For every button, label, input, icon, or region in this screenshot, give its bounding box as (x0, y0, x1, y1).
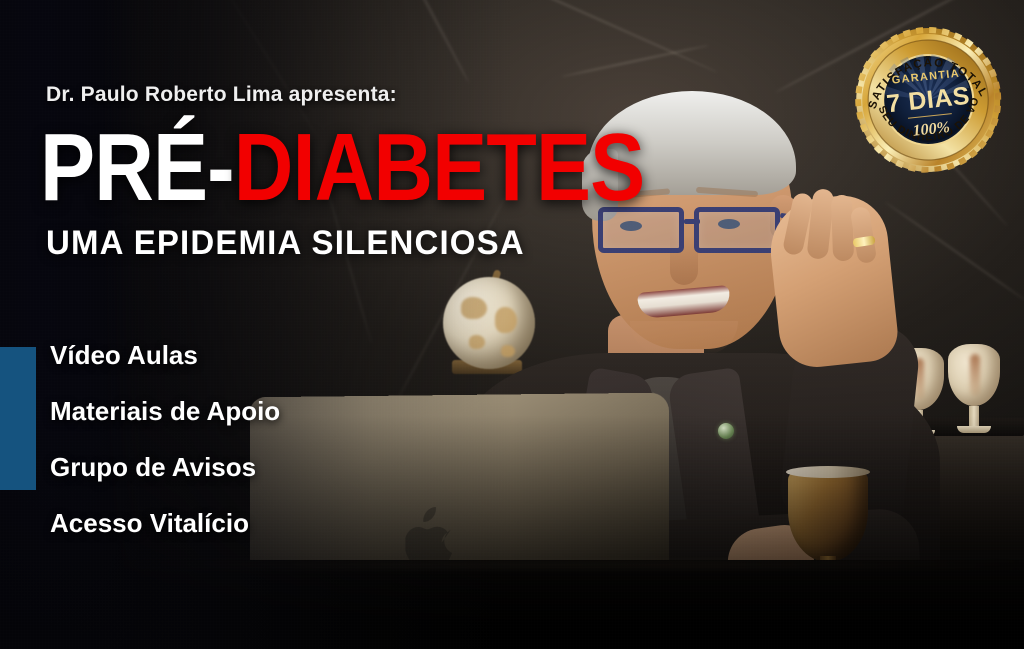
list-item: Materiais de Apoio (50, 398, 280, 424)
headline-prefix: PRÉ- (40, 114, 234, 221)
presenter-label: Dr. Paulo Roberto Lima apresenta: (46, 83, 397, 107)
benefits-list: Vídeo Aulas Materiais de Apoio Grupo de … (50, 342, 280, 536)
list-item: Acesso Vitalício (50, 510, 280, 536)
promo-banner: Dr. Paulo Roberto Lima apresenta: PRÉ-DI… (0, 0, 1024, 649)
guarantee-badge: SATISFAÇÃO TOTAL OU SEU DINHEIRO DE VOLT… (845, 16, 1012, 179)
accent-bar (0, 347, 36, 490)
page-title: PRÉ-DIABETES (40, 123, 644, 213)
page-subtitle: UMA EPIDEMIA SILENCIOSA (46, 224, 525, 263)
list-item: Vídeo Aulas (50, 342, 280, 368)
headline-keyword: DIABETES (234, 114, 645, 221)
list-item: Grupo de Avisos (50, 454, 280, 480)
